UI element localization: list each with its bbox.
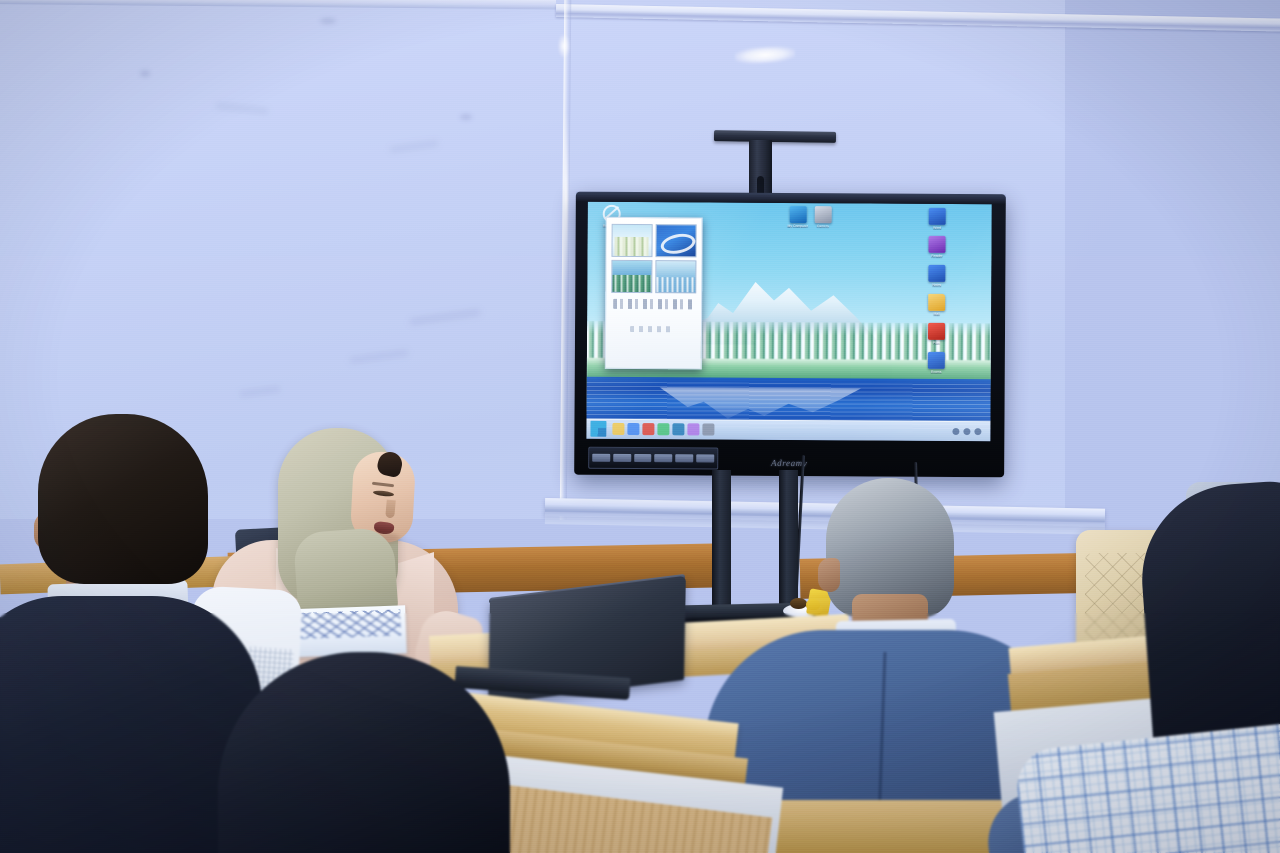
whiteboard-edge-glare <box>564 110 568 290</box>
desktop-icon-backup[interactable]: Backup <box>979 294 992 317</box>
classroom-photo: Recycle Bin My ComputerCamera WordChrome… <box>0 0 1280 853</box>
dialog-thumbnail-grid[interactable] <box>611 224 697 293</box>
dialog-subcaption-line <box>630 326 672 332</box>
desktop-icon-label: Word <box>901 225 974 230</box>
whiteboard-scratch <box>390 141 438 153</box>
pdf-icon <box>928 323 945 340</box>
whiteboard-smudge <box>140 70 150 77</box>
taskbar-mail[interactable] <box>642 423 654 435</box>
ceiling-light-reflection <box>558 34 570 58</box>
desktop-icon-exams[interactable]: Exams <box>900 352 973 375</box>
taskbar-volume-icon[interactable] <box>963 428 970 435</box>
thumbnail-city-skyline[interactable] <box>611 224 652 257</box>
desktop-icon-lecture[interactable]: Lecture <box>979 323 992 346</box>
desktop-icon-label: Camera <box>811 224 835 228</box>
desktop-icon-label: Plan <box>900 341 973 346</box>
plate-food <box>790 598 807 609</box>
taskbar-browser[interactable] <box>627 423 639 435</box>
desktop-icon-plan[interactable]: Plan <box>900 323 973 346</box>
taskbar-word[interactable] <box>672 424 684 436</box>
desktop-icon-label: Exams <box>900 370 973 375</box>
whiteboard-smudge <box>460 114 472 120</box>
blue-icon <box>789 206 806 223</box>
taskbar-network-icon[interactable] <box>952 428 959 435</box>
desktop-icon-label: Backup <box>979 312 992 317</box>
taskbar-system-tray[interactable] <box>952 428 981 435</box>
desktop-icon-chrome[interactable]: Chrome <box>980 208 992 231</box>
taskbar-file-explorer[interactable] <box>612 423 624 435</box>
whiteboard-scratch <box>410 309 480 325</box>
taskbar-media-player[interactable] <box>657 423 669 435</box>
desktop-icon-label: Player <box>979 255 991 260</box>
desktop-icon-notes[interactable]: Notes <box>900 265 973 288</box>
desktop-icon-excel[interactable]: Excel <box>979 352 992 375</box>
desktop-icon-my-computer[interactable]: My Computer <box>786 206 810 228</box>
purple-icon <box>928 236 945 253</box>
desktop-icon-label: Notes <box>900 283 973 288</box>
desktop-icon-label: Chrome <box>980 226 992 231</box>
dialog-caption-line <box>614 299 694 310</box>
desktop-icon-label: Lecture <box>979 341 992 346</box>
mount-neck <box>749 140 772 200</box>
word-icon <box>928 352 945 369</box>
gray-icon <box>814 206 831 223</box>
ceiling-mount-bracket <box>714 130 836 143</box>
desktop-icon-label: Excel <box>979 284 992 289</box>
taskbar-excel[interactable] <box>687 424 699 436</box>
thumbnail-riverside-town[interactable] <box>611 260 652 293</box>
word-icon <box>929 207 946 224</box>
whiteboard-scratch <box>216 103 268 113</box>
wall-mounted-display[interactable]: Recycle Bin My ComputerCamera WordChrome… <box>574 192 1006 478</box>
desktop-icon-mail[interactable]: Mail <box>900 294 973 317</box>
thumbnail-blue-abstract[interactable] <box>655 225 696 258</box>
whiteboard-scratch <box>240 386 280 397</box>
desktop-icon-excel[interactable]: Excel <box>979 266 992 289</box>
windows-taskbar[interactable] <box>586 418 990 441</box>
attendee-ear <box>818 558 840 592</box>
desktop-icon-label: My Computer <box>786 224 810 228</box>
display-screen[interactable]: Recycle Bin My ComputerCamera WordChrome… <box>586 202 991 441</box>
whiteboard-top-rail-left <box>0 0 556 9</box>
desktop-icon-camera[interactable]: Camera <box>811 206 835 228</box>
taskbar-pinned-items[interactable] <box>612 423 952 437</box>
desktop-icon-player[interactable]: Player <box>979 237 991 260</box>
desktop-icon-label: Excel <box>979 370 992 375</box>
desktop-icon-reader[interactable]: Reader <box>901 236 974 259</box>
desktop-icon-word[interactable]: Word <box>901 207 974 230</box>
thumbnail-lakeside-view[interactable] <box>655 260 696 293</box>
image-picker-dialog[interactable] <box>605 217 703 369</box>
start-button-icon[interactable] <box>590 421 606 437</box>
word-icon <box>928 265 945 282</box>
attendee-front-left-head <box>38 414 208 584</box>
desktop-icon-label: Mail <box>900 312 973 317</box>
taskbar-settings[interactable] <box>702 424 714 436</box>
whiteboard-scratch <box>350 350 408 363</box>
taskbar-battery-icon[interactable] <box>974 428 981 435</box>
desktop-icon-label: Reader <box>901 254 974 259</box>
whiteboard-smudge <box>320 18 336 24</box>
folder-icon <box>928 294 945 311</box>
